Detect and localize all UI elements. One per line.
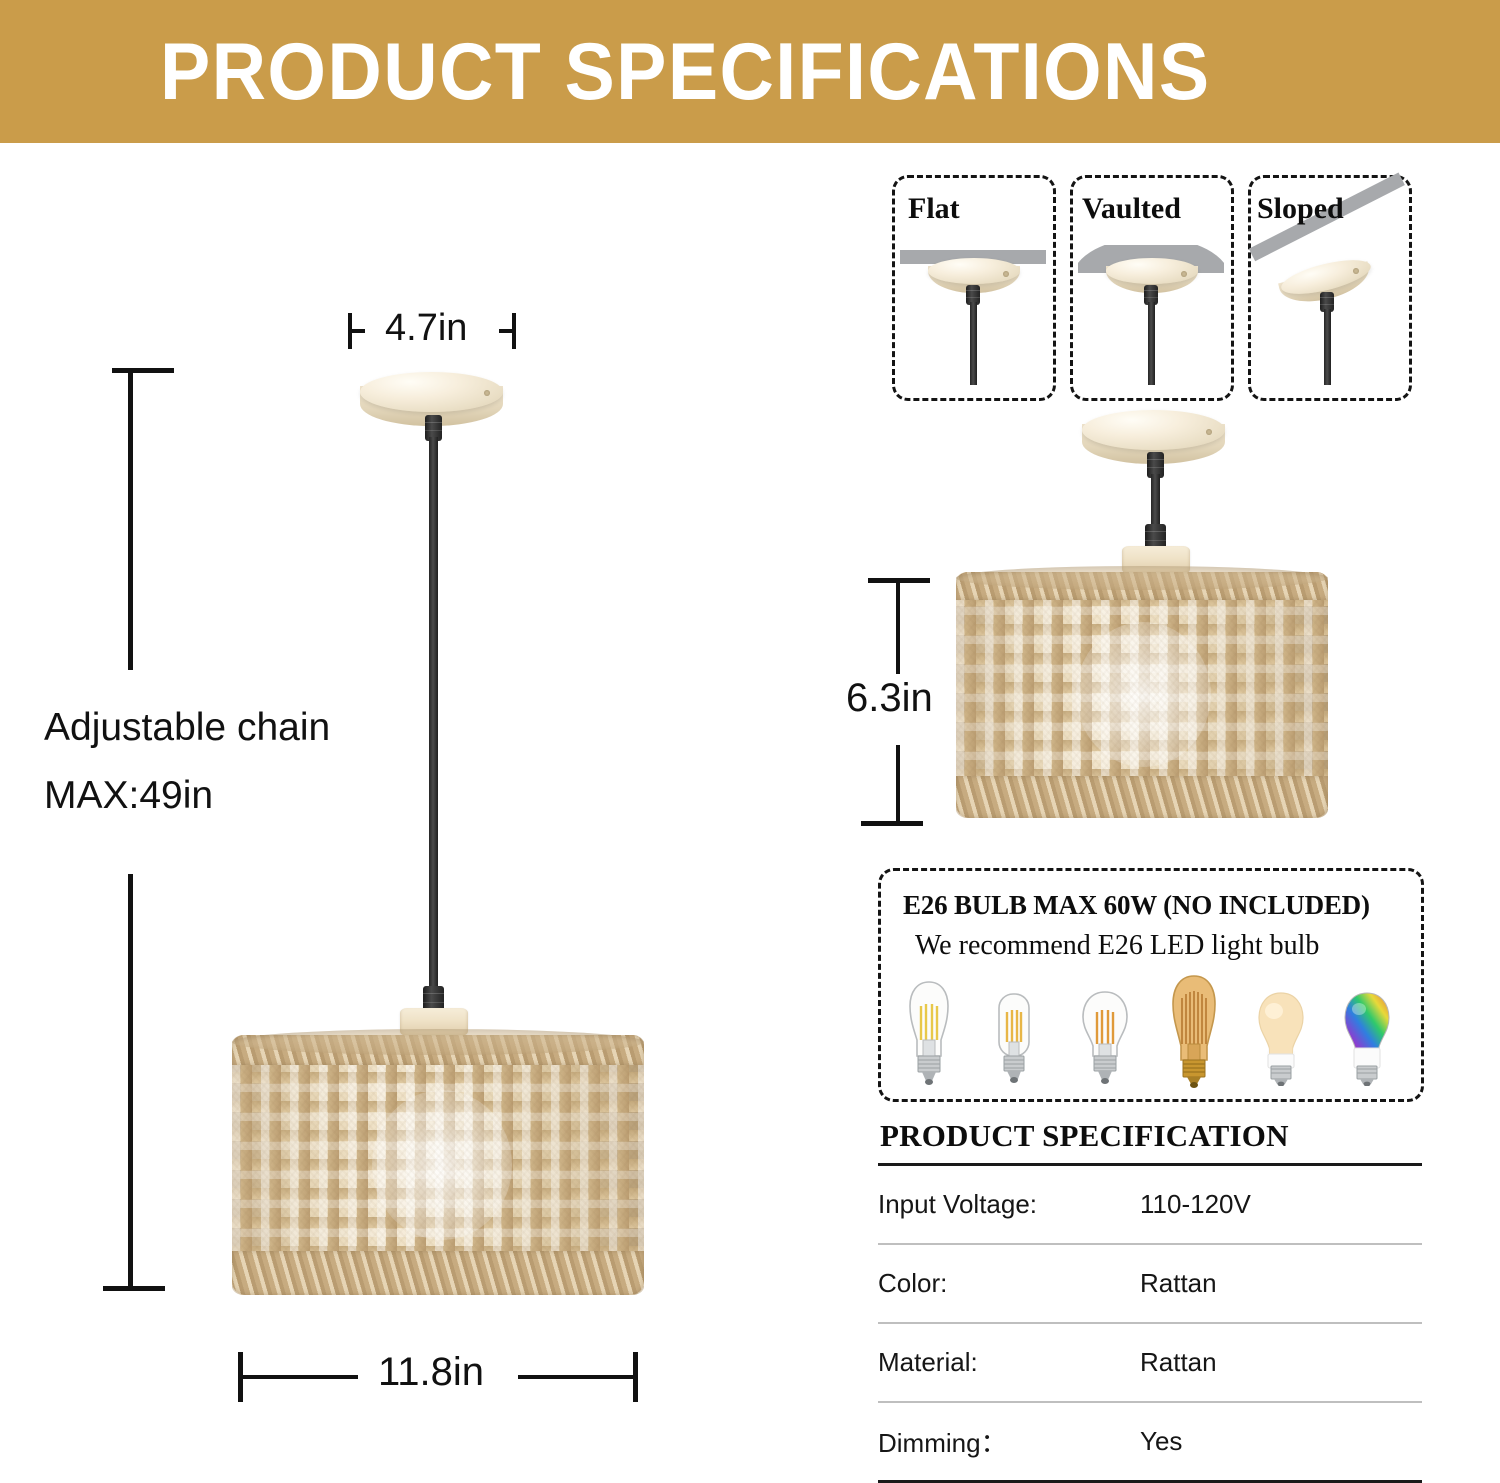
flat-cord xyxy=(970,302,977,385)
vaulted-canopy-screw-icon xyxy=(1181,271,1187,277)
bulb-box-subtitle: We recommend E26 LED light bulb xyxy=(915,930,1319,962)
height-marker-bottom-cap xyxy=(861,821,923,826)
header-banner: PRODUCT SPECIFICATIONS xyxy=(0,0,1500,143)
table-row: Input Voltage: 110-120V xyxy=(878,1166,1422,1243)
page-title: PRODUCT SPECIFICATIONS xyxy=(160,24,1276,120)
bulb-box-title: E26 BULB MAX 60W (NO INCLUDED) xyxy=(903,890,1370,921)
chain-marker-bottom-cap xyxy=(103,1286,165,1291)
mount-label-vaulted: Vaulted xyxy=(1082,192,1181,226)
mount-label-flat: Flat xyxy=(908,192,960,226)
ceiling-canopy xyxy=(360,372,503,412)
shade-width-left-line xyxy=(238,1375,358,1379)
rattan-drum-shade xyxy=(232,1035,644,1295)
spec-label-input-voltage: Input Voltage: xyxy=(878,1189,1140,1220)
chain-marker-lower-line xyxy=(128,874,133,1290)
spec-value-material: Rattan xyxy=(1140,1347,1217,1378)
canopy-screw-icon xyxy=(484,390,490,396)
sloped-canopy-screw-icon xyxy=(1353,268,1359,274)
shade-height-label: 6.3in xyxy=(846,676,933,721)
width-marker-right-stub xyxy=(499,329,516,333)
shade-width-right-cap xyxy=(633,1352,638,1402)
rgb-color-changing-smart-bulb-icon xyxy=(1340,990,1394,1091)
canopy-width-label: 4.7in xyxy=(385,307,467,350)
right-rattan-drum-shade xyxy=(956,572,1328,818)
shade-width-label: 11.8in xyxy=(378,1350,484,1395)
right-shade-top-ellipse xyxy=(956,566,1328,590)
spec-value-input-voltage: 110-120V xyxy=(1140,1189,1251,1220)
st64-clear-filament-bulb-icon xyxy=(901,978,957,1091)
chain-marker-top-cap xyxy=(112,368,174,373)
vaulted-cord xyxy=(1148,302,1155,385)
height-marker-lower-line xyxy=(896,745,900,825)
shade-width-right-line xyxy=(518,1375,638,1379)
right-canopy-screw-icon xyxy=(1206,429,1212,435)
shade-bottom-rim xyxy=(232,1251,644,1295)
a19-clear-filament-bulb-icon xyxy=(1078,988,1132,1091)
pendant-cord xyxy=(429,437,438,999)
table-row: Color: Rattan xyxy=(878,1245,1422,1322)
right-pendant-cord xyxy=(1151,474,1160,530)
spec-table: Input Voltage: 110-120V Color: Rattan Ma… xyxy=(878,1163,1422,1483)
spec-label-color: Color: xyxy=(878,1268,1140,1299)
edison-amber-vintage-bulb-icon xyxy=(1164,972,1224,1093)
spec-label-material: Material: xyxy=(878,1347,1140,1378)
chain-marker-upper-line xyxy=(128,368,133,670)
shade-top-ellipse xyxy=(232,1029,644,1055)
right-shade-bottom-rim xyxy=(956,776,1328,818)
table-row: Dimming： Yes xyxy=(878,1403,1422,1480)
adjustable-chain-label-line2: MAX:49in xyxy=(44,774,213,818)
sloped-cord xyxy=(1324,309,1331,385)
t45-tubular-filament-bulb-icon xyxy=(990,990,1038,1091)
spec-value-dimming: Yes xyxy=(1140,1426,1182,1457)
a19-frosted-warm-white-bulb-icon xyxy=(1254,990,1308,1091)
table-row: Material: Rattan xyxy=(878,1324,1422,1401)
mount-label-sloped: Sloped xyxy=(1257,192,1344,226)
flat-canopy-screw-icon xyxy=(1003,271,1009,277)
spec-label-dimming: Dimming： xyxy=(878,1423,1140,1460)
right-ceiling-canopy xyxy=(1082,410,1225,450)
spec-value-color: Rattan xyxy=(1140,1268,1217,1299)
height-marker-upper-line xyxy=(896,578,900,674)
spec-table-heading: PRODUCT SPECIFICATION xyxy=(880,1118,1289,1154)
width-marker-left-stub xyxy=(348,329,365,333)
adjustable-chain-label-line1: Adjustable chain xyxy=(44,706,330,750)
